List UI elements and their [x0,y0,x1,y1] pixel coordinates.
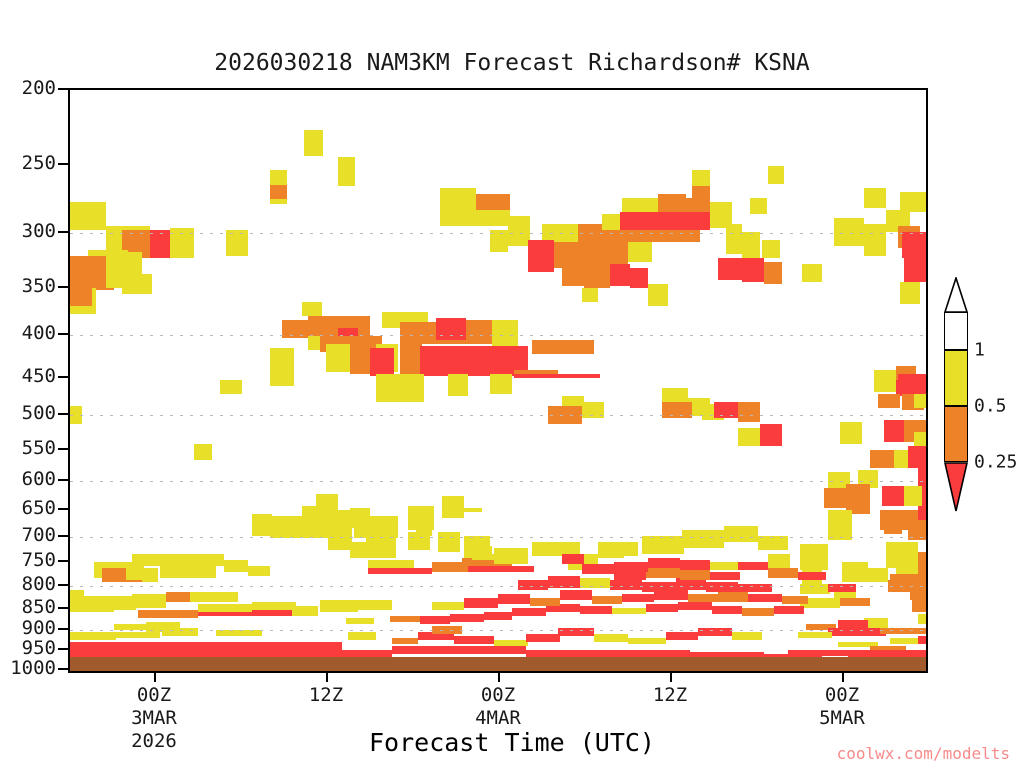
heatmap-cell [114,624,146,630]
heatmap-cell [558,628,594,636]
heatmap-cell [320,600,358,612]
heatmap-cell [172,554,224,566]
heatmap-cell [774,606,804,614]
heatmap-cell [558,224,580,242]
heatmap-cell [358,600,392,610]
heatmap-cell [270,185,287,199]
heatmap-cell [900,192,928,212]
heatmap-cell [492,320,518,346]
heatmap-cell [464,508,482,512]
x-axis-label: 12Z [653,684,687,707]
heatmap-cell [390,616,420,622]
x-axis-label-line: 00Z [819,684,865,707]
heatmap-cell [70,202,106,230]
heatmap-cell [578,224,602,244]
heatmap-cell [738,584,772,592]
heatmap-cell [782,596,808,604]
heatmap-cell [666,632,698,640]
heatmap-cell [190,592,238,602]
heatmap-cell [762,240,780,258]
heatmap-cells [70,90,926,671]
x-axis-label-line: 12Z [653,684,687,707]
y-axis-label: 700 [22,524,56,546]
x-axis-label-line: 5MAR [819,707,865,730]
heatmap-cell [680,570,710,580]
heatmap-cell [592,596,622,604]
heatmap-cell [738,402,760,422]
heatmap-cell [914,432,928,446]
heatmap-cell [580,606,612,614]
heatmap-cell [614,562,648,572]
y-axis-label: 350 [22,275,56,297]
heatmap-cell [768,554,790,568]
heatmap-cell [302,302,322,316]
heatmap-cell [132,594,166,608]
x-axis-tick [326,673,328,682]
heatmap-cell [600,242,628,264]
heatmap-cell [162,628,198,636]
heatmap-cell [432,626,462,634]
heatmap-cell [598,550,624,558]
heatmap-cell [416,516,432,536]
heatmap-cell [466,320,492,344]
heatmap-cell [484,612,512,620]
heatmap-cell [718,258,742,280]
heatmap-cell [902,232,928,258]
heatmap-cell [748,594,782,602]
heatmap-cell [532,340,594,354]
terrain-band [70,657,926,671]
heatmap-cell [880,628,928,634]
x-axis-tick [498,673,500,682]
heatmap-cell [646,568,680,578]
colorbar-segment [944,406,968,462]
colorbar-label: 0.25 [974,452,1017,473]
heatmap-cell [338,157,355,186]
y-axis-label: 1000 [10,657,56,679]
heatmap-cell [400,342,422,376]
heatmap-cell [270,348,294,386]
heatmap-cell [594,634,628,642]
y-axis-tick [58,88,68,90]
heatmap-cell [680,560,710,570]
heatmap-cell [628,638,666,644]
heatmap-cell [922,484,928,506]
heatmap-cell [70,642,118,650]
heatmap-cell [132,554,172,566]
y-axis-tick [58,628,68,630]
heatmap-cell [688,594,718,602]
heatmap-cell [724,526,758,542]
heatmap-cell [802,264,822,282]
heatmap-cell [918,636,928,644]
y-axis-tick [58,163,68,165]
heatmap-cell [840,598,870,606]
heatmap-cell [490,374,512,394]
heatmap-cell [714,402,738,418]
heatmap-cell [648,284,668,306]
y-axis-tick [58,376,68,378]
heatmap-cell [890,574,928,582]
y-axis-tick [58,508,68,510]
heatmap-cell [646,604,678,612]
heatmap-cell [432,602,464,610]
heatmap-cell [508,216,530,246]
heatmap-cell [578,242,600,266]
heatmap-cell [662,402,692,418]
x-axis-label: 12Z [309,684,343,707]
heatmap-cell [710,572,740,580]
heatmap-cell [514,374,600,378]
heatmap-cell [376,374,424,402]
y-axis-label: 800 [22,573,56,595]
heatmap-cell [798,572,826,580]
heatmap-cell [864,188,886,208]
heatmap-cell [658,194,686,212]
y-axis-tick [58,413,68,415]
y-axis-tick [58,648,68,650]
heatmap-cell [498,594,530,604]
y-axis-tick [58,535,68,537]
y-axis-label: 300 [22,220,56,242]
heatmap-cell [824,488,846,508]
heatmap-cell [628,242,652,262]
heatmap-cell [884,420,906,442]
heatmap-cell [438,532,460,552]
heatmap-cell [454,636,494,644]
heatmap-cell [526,634,560,642]
heatmap-cell [706,582,738,592]
y-axis-tick [58,479,68,481]
heatmap-cell [112,632,160,638]
heatmap-cell [270,516,328,538]
heatmap-cell [828,628,886,636]
heatmap-cell [440,210,510,226]
heatmap-cell [118,642,180,650]
heatmap-cell [648,558,680,568]
heatmap-cell [612,608,646,614]
x-axis-tick [670,673,672,682]
heatmap-cell [452,646,526,654]
heatmap-cell [712,606,742,614]
heatmap-cell [864,224,886,256]
heatmap-cell [292,606,318,616]
heatmap-cell [908,520,928,540]
chart-title: 2026030218 NAM3KM Forecast Richardson# K… [0,50,1024,76]
y-axis-tick [58,607,68,609]
heatmap-cell [450,614,484,622]
heatmap-cell [370,348,394,376]
heatmap-cell [732,632,762,640]
y-axis-label: 400 [22,322,56,344]
heatmap-cell [682,530,724,548]
heatmap-cell [898,374,928,396]
y-axis-label: 200 [22,77,56,99]
heatmap-cell [874,370,896,392]
heatmap-cell [620,212,710,230]
heatmap-cell [692,170,710,186]
heatmap-cell [512,608,546,616]
watermark: coolwx.com/modelts [837,744,1010,763]
heatmap-cell [582,288,598,302]
heatmap-cell [678,602,712,610]
heatmap-cell [642,582,676,592]
heatmap-cell [198,604,258,612]
heatmap-cell [180,642,228,650]
heatmap-cell [620,230,700,242]
heatmap-cell [912,600,928,612]
heatmap-cell [448,374,468,396]
heatmap-cell [726,224,742,254]
y-axis-tick [58,560,68,562]
y-axis-label: 850 [22,596,56,618]
heatmap-cell [582,564,614,574]
heatmap-cell [248,566,270,576]
heatmap-cell [904,258,928,282]
heatmap-cell [142,568,158,582]
heatmap-cell [350,542,396,558]
heatmap-cell [216,630,262,636]
heatmap-cell [350,508,370,528]
y-axis-label: 750 [22,549,56,571]
heatmap-cell [768,568,798,578]
heatmap-cell [368,560,414,568]
heatmap-cell [328,528,352,550]
heatmap-cell [226,230,248,256]
x-axis-label: 00Z5MAR [819,684,865,730]
heatmap-cell [530,598,560,606]
heatmap-cell [768,166,784,184]
y-axis-tick [58,584,68,586]
heatmap-cell [442,496,464,518]
x-axis-label-line: 4MAR [475,707,521,730]
y-axis: 2002503003504004505005506006507007508008… [0,88,68,673]
y-axis-tick [58,231,68,233]
heatmap-cell [346,618,374,624]
heatmap-cell [764,262,782,284]
x-axis-tick [842,673,844,682]
x-axis-label-line: 3MAR [131,707,177,730]
heatmap-cell [738,562,768,570]
heatmap-cell [464,566,534,572]
y-axis-tick [58,448,68,450]
heatmap-cell [580,578,610,588]
heatmap-cell [228,642,288,650]
heatmap-cell [70,600,114,612]
heatmap-cell [584,264,610,288]
y-axis-label: 650 [22,497,56,519]
heatmap-cell [166,592,190,602]
heatmap-cell [420,616,450,624]
heatmap-cell [738,428,762,446]
heatmap-cell [548,406,582,424]
heatmap-cell [908,446,928,468]
heatmap-cell [914,394,928,408]
heatmap-cell [464,598,498,608]
heatmap-cell [878,394,900,408]
heatmap-cell [392,638,418,644]
heatmap-cell [900,282,920,304]
heatmap-cell [742,258,764,282]
heatmap-cell [742,232,760,258]
y-axis-label: 450 [22,365,56,387]
heatmap-cell [828,510,852,540]
heatmap-cell [710,562,738,570]
x-axis-tick [154,673,156,682]
heatmap-cell [828,584,856,592]
x-axis-label-line: 00Z [131,684,177,707]
heatmap-cell [282,320,308,338]
heatmap-cell [224,560,248,572]
heatmap-cell [882,486,904,506]
heatmap-cell [270,170,287,185]
heatmap-cell [464,546,492,558]
heatmap-cell [870,450,894,468]
heatmap-cell [528,240,554,272]
x-axis-label-line: 12Z [309,684,343,707]
heatmap-cell [614,572,646,580]
x-axis-label-line: 00Z [475,684,521,707]
heatmap-cell [834,218,864,246]
heatmap-cell [392,646,452,654]
heatmap-cell [800,584,830,594]
heatmap-cell [270,199,287,204]
heatmap-cell [562,554,584,564]
heatmap-cell [70,632,116,640]
heatmap-cell [194,444,212,460]
heatmap-cell [910,590,928,600]
heatmap-cell [798,632,832,638]
heatmap-cell [170,228,194,258]
heatmap-cell [750,198,767,214]
heatmap-cell [138,610,198,618]
colorbar-segment [944,350,968,406]
colorbar-over-outline [944,277,968,312]
heatmap-cell [440,188,476,210]
heatmap-cell [70,272,92,306]
heatmap-cell [380,516,398,538]
heatmap-cell [532,542,564,556]
heatmap-cell [548,576,580,588]
y-axis-label: 500 [22,402,56,424]
y-axis-tick [58,668,68,670]
heatmap-cell [494,640,528,646]
heatmap-cell [630,268,648,288]
heatmap-cell [288,642,342,650]
heatmap-cell [316,494,338,514]
heatmap-cell [758,536,788,550]
heatmap-cell [494,548,528,564]
heatmap-cell [220,380,242,394]
heatmap-cell [760,424,782,446]
heatmap-cell [582,402,604,418]
heatmap-cell [918,614,928,624]
heatmap-cell [560,590,592,600]
heatmap-cell [518,580,548,590]
heatmap-cell [122,274,152,294]
y-axis-tick [58,286,68,288]
y-axis-label: 250 [22,152,56,174]
heatmap-cell [186,564,216,578]
heatmap-cell [252,602,296,610]
heatmap-cell [304,130,323,156]
heatmap-cell [918,552,928,574]
heatmap-cell [70,406,82,424]
heatmap-cell [642,536,684,554]
heatmap-cell [368,568,432,574]
y-axis-label: 550 [22,437,56,459]
heatmap-cell [462,558,472,566]
heatmap-cell [490,230,508,252]
heatmap-cell [348,632,376,640]
heatmap-cell [436,318,466,340]
colorbar-label: 0.5 [974,396,1007,417]
heatmap-cell [610,580,642,590]
heatmap-cell [742,608,774,616]
heatmap-cell [698,628,732,636]
y-axis-label: 900 [22,617,56,639]
colorbar-under-arrow [944,462,968,512]
colorbar: 10.50.25 [944,312,968,462]
heatmap-cell [718,592,748,602]
heatmap-cell [840,422,862,444]
heatmap-cell [326,344,350,372]
heatmap-cell [622,594,654,602]
y-axis-label: 950 [22,637,56,659]
heatmap-cell [864,568,888,582]
heatmap-plot-area [68,88,928,673]
heatmap-cell [884,526,902,534]
heatmap-cell [610,264,630,286]
colorbar-label: 1 [974,340,985,361]
colorbar-segment [944,312,968,350]
y-axis-label: 600 [22,468,56,490]
y-axis-tick [58,333,68,335]
heatmap-cell [252,514,272,536]
x-axis-label: 00Z4MAR [475,684,521,730]
